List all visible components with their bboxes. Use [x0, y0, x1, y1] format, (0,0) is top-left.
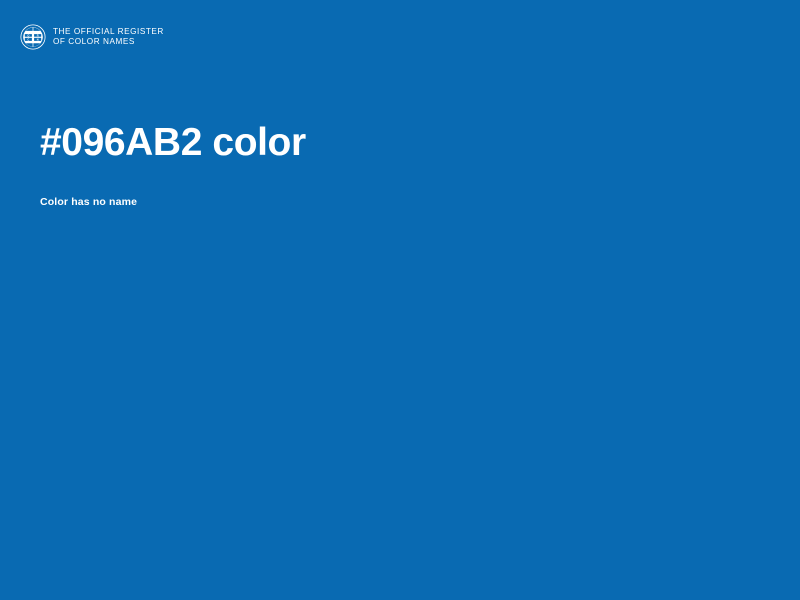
brand-wordmark: THE OFFICIAL REGISTER OF COLOR NAMES [53, 27, 164, 48]
svg-text:O: O [27, 33, 29, 37]
svg-text:C: C [27, 37, 29, 41]
svg-text:N: N [37, 37, 39, 41]
svg-text:R: R [37, 33, 39, 37]
official-register-seal-icon: O R C N [20, 24, 46, 50]
color-page: O R C N THE OFFICIAL REGISTER OF COLOR N… [0, 0, 800, 600]
main-content: #096AB2 color Color has no name [40, 120, 760, 210]
brand-home-link[interactable]: O R C N THE OFFICIAL REGISTER OF COLOR N… [20, 24, 164, 50]
site-header: O R C N THE OFFICIAL REGISTER OF COLOR N… [20, 24, 164, 50]
brand-line-2: OF COLOR NAMES [53, 37, 164, 48]
brand-line-1: THE OFFICIAL REGISTER [53, 27, 164, 38]
color-name-status: Color has no name [40, 166, 760, 210]
page-title: #096AB2 color [40, 120, 760, 166]
